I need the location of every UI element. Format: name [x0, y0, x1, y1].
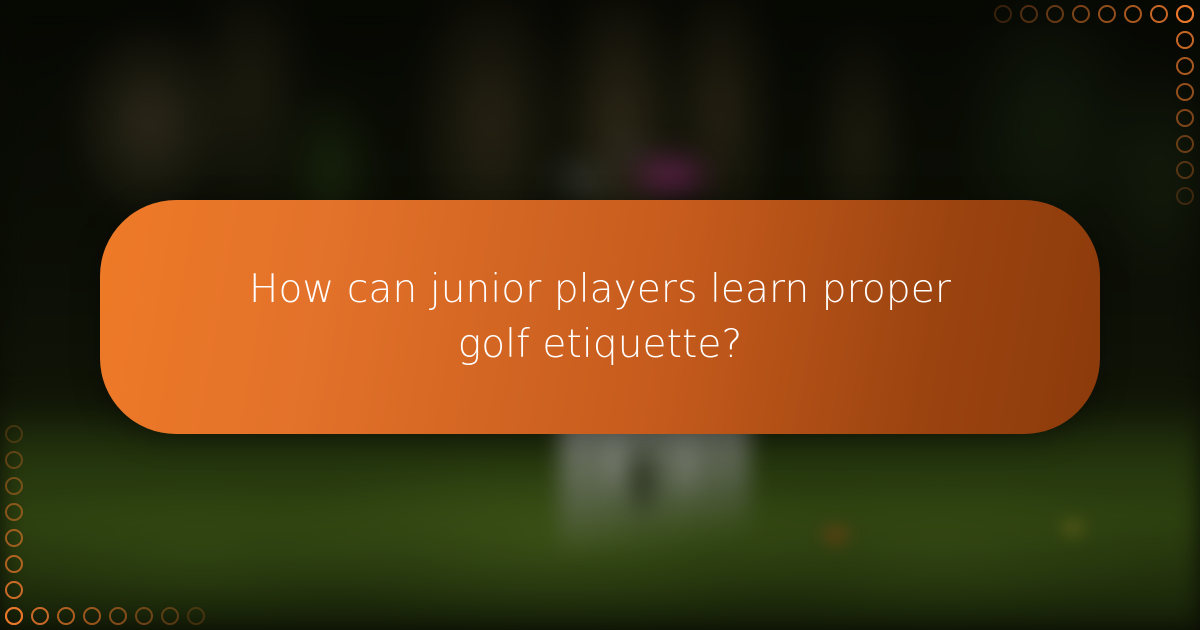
decorative-dot: [1176, 187, 1194, 205]
decorative-dot: [5, 451, 23, 469]
decorative-dot: [994, 5, 1012, 23]
question-card: How can junior players learn proper golf…: [100, 200, 1100, 434]
decorative-dot: [1176, 109, 1194, 127]
decorative-dot: [31, 607, 49, 625]
decorative-dot: [135, 607, 153, 625]
decorative-dot: [5, 581, 23, 599]
decorative-dot: [1176, 135, 1194, 153]
decorative-dot: [1176, 83, 1194, 101]
decorative-dot: [1020, 5, 1038, 23]
decorative-dot: [1124, 5, 1142, 23]
decorative-dot: [5, 477, 23, 495]
decorative-dot: [161, 607, 179, 625]
decorative-dot: [5, 529, 23, 547]
decorative-dot: [1098, 5, 1116, 23]
decorative-dot: [1176, 31, 1194, 49]
decorative-dot: [1150, 5, 1168, 23]
question-text: How can junior players learn proper golf…: [200, 262, 1000, 373]
decorative-dot: [1176, 161, 1194, 179]
decorative-dot: [1072, 5, 1090, 23]
decorative-dot: [187, 607, 205, 625]
decorative-dot: [109, 607, 127, 625]
decorative-dot: [1046, 5, 1064, 23]
decorative-dot: [5, 607, 23, 625]
decorative-dot: [57, 607, 75, 625]
decorative-dot: [5, 425, 23, 443]
decorative-dot: [1176, 5, 1194, 23]
question-card-graphic: How can junior players learn proper golf…: [0, 0, 1200, 630]
decorative-dot: [5, 555, 23, 573]
decorative-dot: [83, 607, 101, 625]
decorative-dot: [1176, 57, 1194, 75]
decorative-dot: [5, 503, 23, 521]
